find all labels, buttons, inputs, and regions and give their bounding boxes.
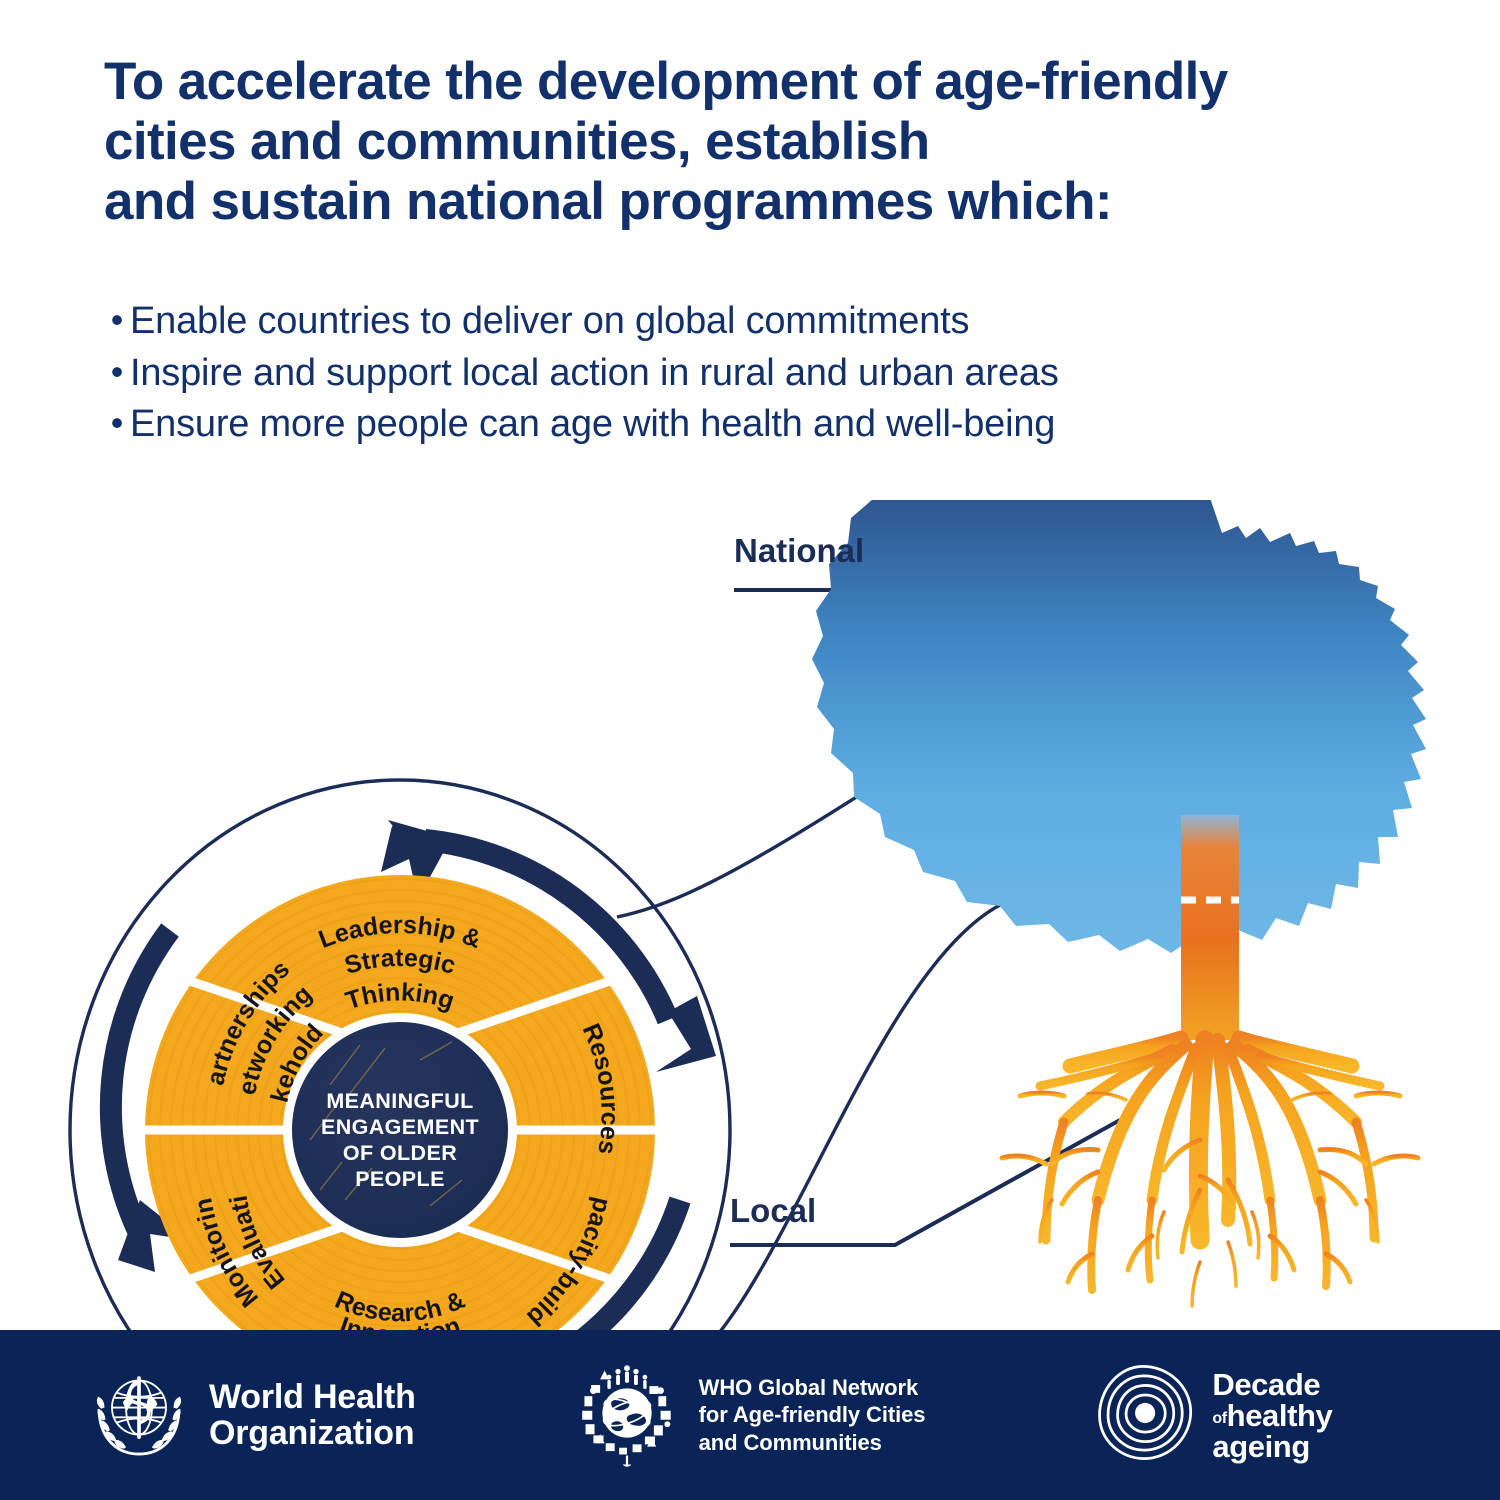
header-section: To accelerate the development of age-fri…: [104, 52, 1464, 232]
decade-line-2: ofhealthy: [1212, 1400, 1332, 1431]
callout-label-national: National: [734, 532, 864, 569]
callout-label-local: Local: [730, 1192, 816, 1229]
bullet-marker-icon: •: [104, 300, 130, 338]
list-item: • Enable countries to deliver on global …: [104, 300, 1304, 343]
who-logo: World Health Organization: [85, 1359, 416, 1472]
page-title: To accelerate the development of age-fri…: [104, 52, 1464, 232]
concentric-rings-icon: [1090, 1360, 1196, 1471]
bullet-marker-icon: •: [104, 352, 130, 390]
tree-roots: [1002, 1038, 1418, 1306]
list-item: • Ensure more people can age with health…: [104, 403, 1304, 446]
decade-healthy-word: healthy: [1227, 1398, 1333, 1433]
who-logo-text: World Health Organization: [209, 1379, 416, 1451]
bullet-list: • Enable countries to deliver on global …: [104, 300, 1304, 455]
tree-illustration: [812, 500, 1426, 1306]
network-logo-text: WHO Global Network for Age-friendly Citi…: [699, 1374, 926, 1457]
who-emblem-icon: [85, 1359, 193, 1472]
center-line-3: OF OLDER: [343, 1141, 457, 1165]
decade-line-1: Decade: [1212, 1369, 1332, 1400]
tree-canopy: [812, 500, 1426, 953]
decade-of-word: of: [1212, 1410, 1226, 1427]
center-line-1: MEANINGFUL: [326, 1089, 473, 1113]
decade-line-3: ageing: [1212, 1431, 1332, 1462]
list-item: • Inspire and support local action in ru…: [104, 352, 1304, 395]
decade-of-healthy-ageing-logo: Decade ofhealthy ageing: [1090, 1360, 1332, 1471]
svg-text:Partnerships,: Partnerships,: [0, 500, 295, 1088]
tree-trunk: [1181, 815, 1239, 1040]
decade-logo-text: Decade ofhealthy ageing: [1212, 1369, 1332, 1462]
bullet-text: Enable countries to deliver on global co…: [130, 300, 969, 343]
bullet-text: Ensure more people can age with health a…: [130, 403, 1055, 446]
bullet-text: Inspire and support local action in rura…: [130, 352, 1059, 395]
diagram-illustration: MEANINGFUL ENGAGEMENT OF OLDER PEOPLE Le…: [0, 500, 1500, 1330]
who-global-network-logo: WHO Global Network for Age-friendly Citi…: [571, 1357, 926, 1474]
center-line-4: PEOPLE: [355, 1167, 445, 1191]
footer-bar: World Health Organization: [0, 1330, 1500, 1500]
segment-line: Partnerships,: [0, 500, 295, 1088]
bullet-marker-icon: •: [104, 403, 130, 441]
globe-community-icon: [571, 1357, 683, 1474]
capability-wheel: MEANINGFUL ENGAGEMENT OF OLDER PEOPLE Le…: [0, 500, 655, 1330]
center-line-2: ENGAGEMENT: [321, 1115, 479, 1139]
